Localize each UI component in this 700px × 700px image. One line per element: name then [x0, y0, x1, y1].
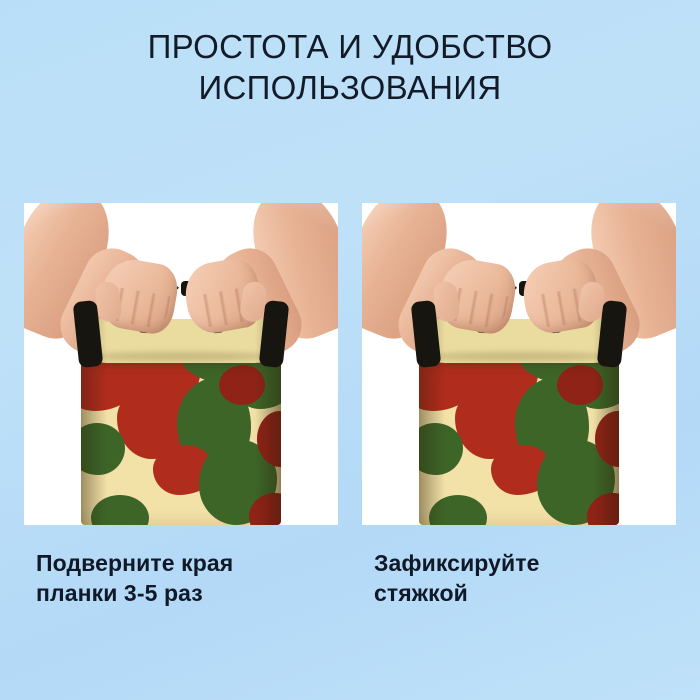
camo-blob [429, 495, 487, 525]
camo-blob [557, 365, 603, 405]
product-photo-step-2 [362, 203, 676, 525]
steps-captions: Подверните края планки 3-5 раз Зафиксиру… [24, 548, 676, 638]
step-2-photo-panel [362, 203, 676, 525]
product-photo-step-1 [24, 203, 338, 525]
camo-blob [91, 495, 149, 525]
infographic-root: ПРОСТОТА И УДОБСТВО ИСПОЛЬЗОВАНИЯ [0, 0, 700, 700]
page-title: ПРОСТОТА И УДОБСТВО ИСПОЛЬЗОВАНИЯ [0, 26, 700, 108]
camo-blob [219, 365, 265, 405]
step-1-photo-panel [24, 203, 338, 525]
step-2-caption: Зафиксируйте стяжкой [362, 548, 676, 638]
steps-gallery [24, 203, 676, 525]
dry-bag-body [81, 319, 281, 525]
dry-bag-body [419, 319, 619, 525]
step-1-caption: Подверните края планки 3-5 раз [24, 548, 338, 638]
